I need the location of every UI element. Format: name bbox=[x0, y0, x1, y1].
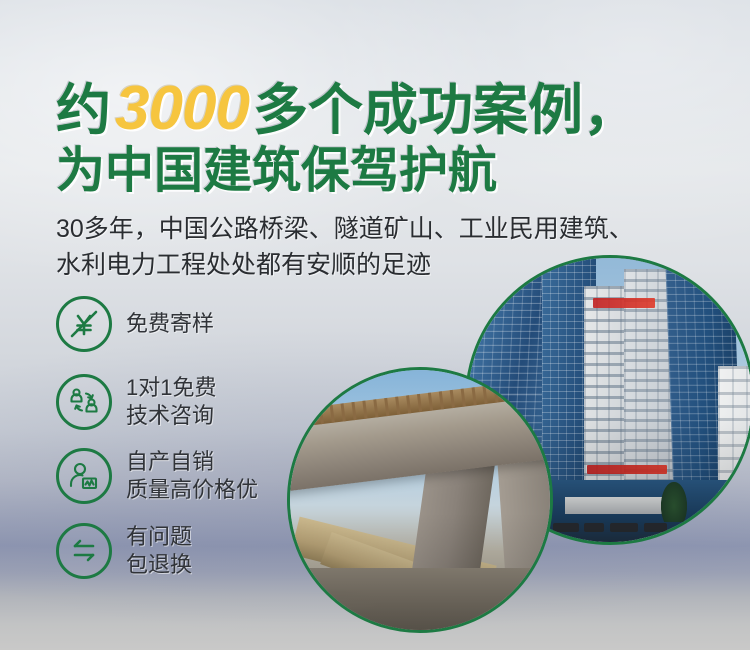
one-to-one-consult-icon bbox=[56, 374, 112, 430]
feature-text: 1对1免费 bbox=[126, 374, 216, 402]
headline-suffix: 多个成功案例， bbox=[253, 79, 638, 141]
feature-text: 质量高价格优 bbox=[126, 476, 258, 504]
feature-item-return[interactable]: 有问题 包退换 bbox=[56, 523, 258, 579]
feature-label-self-produce: 自产自销 质量高价格优 bbox=[126, 448, 258, 504]
headline-prefix: 约 bbox=[56, 79, 111, 141]
bridge-photo bbox=[287, 367, 553, 633]
feature-text: 自产自销 bbox=[126, 448, 258, 476]
headline-number: 3000 bbox=[111, 74, 253, 143]
headline-line-1: 约3000多个成功案例， bbox=[56, 78, 726, 140]
no-fee-yuan-icon bbox=[56, 296, 112, 352]
feature-text: 技术咨询 bbox=[126, 402, 216, 430]
promo-banner: 约3000多个成功案例， 为中国建筑保驾护航 30多年，中国公路桥梁、隧道矿山、… bbox=[0, 0, 750, 650]
subtitle-line-1: 30多年，中国公路桥梁、隧道矿山、工业民用建筑、 bbox=[56, 212, 736, 248]
feature-item-consult[interactable]: 1对1免费 技术咨询 bbox=[56, 374, 258, 430]
photo-vignette bbox=[290, 370, 550, 630]
headline-block: 约3000多个成功案例， 为中国建筑保驾护航 bbox=[56, 78, 726, 197]
exchange-return-icon bbox=[56, 523, 112, 579]
headline-line-2: 为中国建筑保驾护航 bbox=[56, 146, 726, 197]
feature-label-consult: 1对1免费 技术咨询 bbox=[126, 374, 216, 430]
feature-label-return: 有问题 包退换 bbox=[126, 523, 192, 579]
feature-label-free-sample: 免费寄样 bbox=[126, 310, 214, 338]
feature-item-self-produce[interactable]: 自产自销 质量高价格优 bbox=[56, 448, 258, 504]
feature-text: 包退换 bbox=[126, 551, 192, 579]
feature-list: 免费寄样 1对1免费 技术咨询 bbox=[56, 296, 258, 597]
feature-item-free-sample[interactable]: 免费寄样 bbox=[56, 296, 258, 352]
feature-text: 免费寄样 bbox=[126, 310, 214, 338]
self-produce-sell-icon bbox=[56, 448, 112, 504]
feature-text: 有问题 bbox=[126, 523, 192, 551]
